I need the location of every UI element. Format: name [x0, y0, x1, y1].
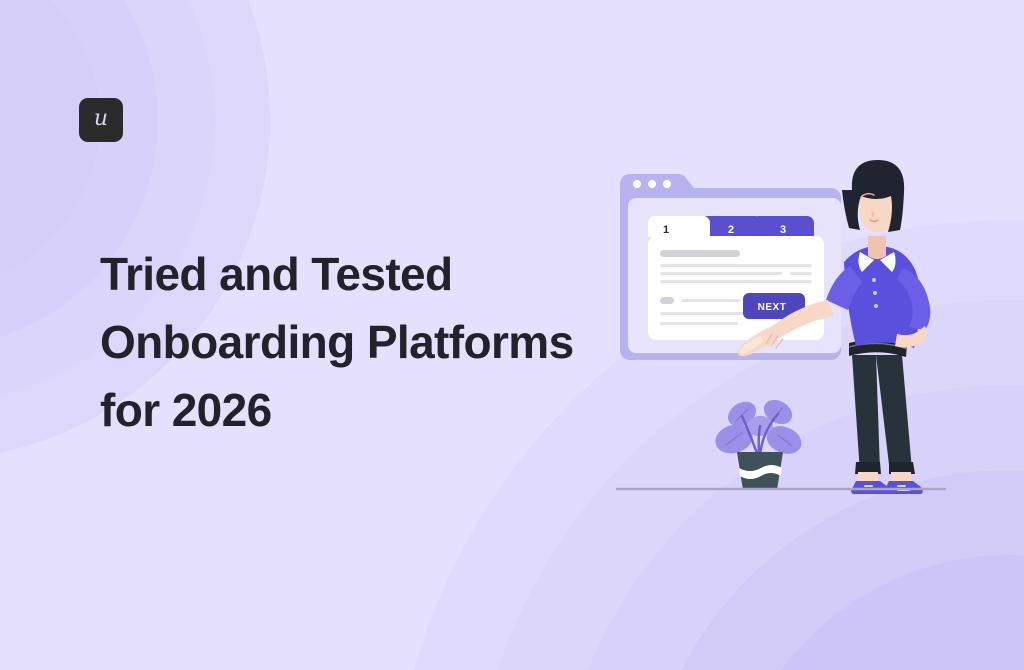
next-button-label: NEXT: [758, 302, 787, 313]
placeholder-line: [660, 312, 752, 315]
shoe-detail: [897, 485, 906, 487]
neck: [868, 236, 886, 259]
step-tab-3-label: 3: [780, 224, 786, 236]
placeholder-line: [660, 322, 738, 325]
hero-banner: u Tried and Tested Onboarding Platforms …: [0, 0, 1024, 670]
shoe-right: [884, 481, 923, 494]
ankle-right: [891, 472, 911, 481]
ankle-left: [858, 472, 878, 481]
shoe-detail: [864, 485, 873, 487]
shirt-button: [874, 304, 878, 308]
step-tab-1[interactable]: [648, 216, 710, 237]
placeholder-line: [660, 272, 782, 275]
step-tabs: 3 2 1: [648, 216, 814, 237]
shirt-button: [872, 278, 876, 282]
window-dot-icon: [648, 180, 656, 188]
placeholder-line: [790, 272, 812, 275]
step-tab-2-label: 2: [728, 224, 734, 236]
logo-glyph: u: [94, 108, 108, 130]
shoe-left: [851, 481, 890, 494]
potted-plant: [712, 395, 806, 490]
shirt-button: [873, 291, 877, 295]
leg-front: [876, 355, 912, 473]
step-tab-1-label: 1: [663, 224, 669, 236]
leg-back: [852, 355, 880, 473]
placeholder-line: [660, 264, 812, 267]
window-dot-icon: [663, 180, 671, 188]
placeholder-line: [660, 280, 812, 283]
placeholder-line: [682, 299, 740, 302]
window-dot-icon: [633, 180, 641, 188]
page-title: Tried and Tested Onboarding Platforms fo…: [100, 240, 620, 444]
userpilot-logo[interactable]: u: [79, 98, 123, 142]
placeholder-toggle[interactable]: [660, 297, 674, 304]
onboarding-wizard-illustration: 3 2 1: [600, 150, 980, 510]
placeholder-heading: [660, 250, 740, 257]
